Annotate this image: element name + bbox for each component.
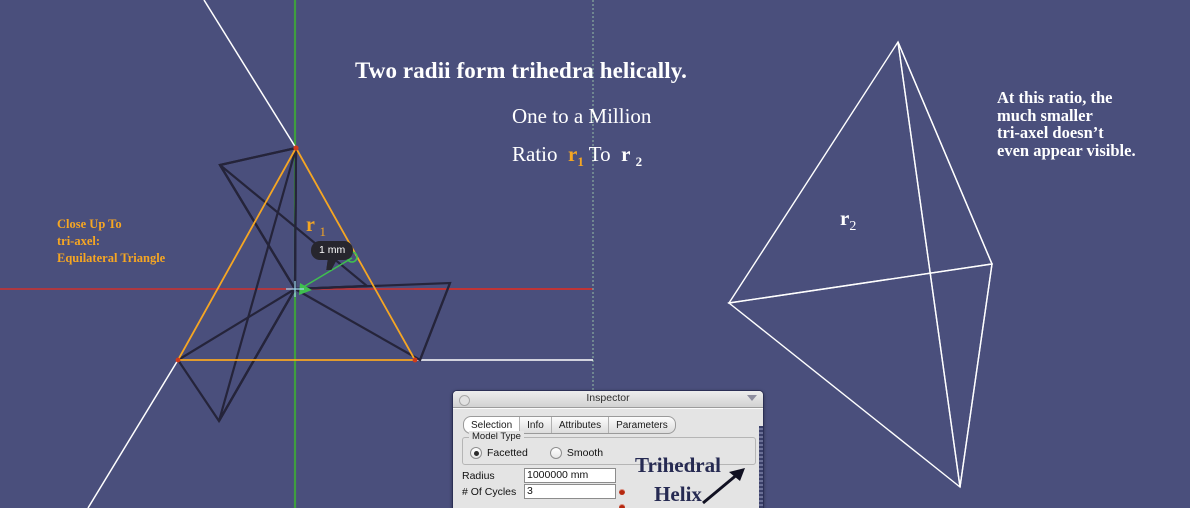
radio-smooth-icon[interactable] [550, 447, 562, 459]
r1-symbol: r [306, 214, 315, 236]
viewport-canvas: Two radii form trihedra helically. One t… [0, 0, 1190, 508]
right-note-line-4: even appear visible. [997, 142, 1187, 160]
tab-info[interactable]: Info [520, 417, 552, 433]
construction-line-upper-left [204, 0, 296, 148]
pointer-arrow-icon [699, 467, 747, 507]
tab-attributes[interactable]: Attributes [552, 417, 609, 433]
origin-crosshair [286, 281, 304, 297]
vertex-marker-bottom-right [413, 358, 418, 363]
cycles-field-row[interactable]: # Of Cycles 3 [462, 484, 616, 499]
r2-symbol: r [840, 206, 849, 230]
trihedron-wireframe-large [729, 42, 992, 487]
radio-facetted-icon[interactable] [470, 447, 482, 459]
vertex-marker-apex [293, 145, 298, 150]
ratio-r1-subscript: 1 [577, 154, 584, 169]
inspector-title: Inspector [453, 392, 763, 404]
radius-field-row[interactable]: Radius 1000000 mm [462, 468, 616, 483]
r1-subscript: 1 [320, 224, 327, 239]
ratio-middle-label: To [589, 142, 611, 166]
tab-parameters[interactable]: Parameters [609, 417, 675, 433]
chevron-down-icon[interactable] [747, 395, 757, 401]
left-note-line-2: tri-axel: [57, 233, 165, 250]
radio-smooth-label[interactable]: Smooth [567, 447, 603, 459]
construction-line-lower-left [88, 360, 178, 508]
inspector-scrollbar[interactable] [759, 426, 763, 508]
ratio-r2-subscript: 2 [636, 154, 643, 169]
left-annotation-note: Close Up To tri-axel: Equilateral Triang… [57, 216, 165, 267]
page-title: Two radii form trihedra helically. [355, 58, 687, 84]
radio-facetted-label[interactable]: Facetted [487, 447, 528, 459]
ratio-prefix-label: Ratio [512, 142, 558, 166]
model-type-radio-row[interactable]: Facetted Smooth [470, 447, 603, 459]
equilateral-triangle-orange [178, 148, 415, 360]
right-annotation-note: At this ratio, the much smaller tri-axel… [997, 89, 1187, 159]
ratio-r1-symbol: r [568, 142, 577, 166]
right-note-line-2: much smaller [997, 107, 1187, 125]
right-note-line-1: At this ratio, the [997, 89, 1187, 107]
right-note-line-3: tri-axel doesn’t [997, 124, 1187, 142]
ratio-line: Ratio r1 To r 2 [512, 142, 642, 170]
cycles-label: # Of Cycles [462, 486, 524, 498]
radius-label: Radius [462, 470, 524, 482]
inspector-titlebar[interactable]: Inspector [453, 391, 763, 408]
radius-input[interactable]: 1000000 mm [524, 468, 616, 483]
radius-label-r1: r 1 [306, 214, 326, 240]
subtitle: One to a Million [512, 104, 651, 129]
r2-subscript: 2 [849, 219, 856, 234]
measurement-tooltip: 1 mm [311, 241, 353, 260]
ratio-r2-symbol: r [621, 142, 630, 166]
left-note-line-1: Close Up To [57, 216, 165, 233]
inspector-body: Selection Info Attributes Parameters Mod… [453, 408, 763, 508]
model-type-legend: Model Type [469, 431, 524, 442]
vertex-marker-bottom-left [176, 358, 181, 363]
cycles-input[interactable]: 3 [524, 484, 616, 499]
left-note-line-3: Equilateral Triangle [57, 250, 165, 267]
inspector-window[interactable]: Inspector Selection Info Attributes Para… [452, 390, 764, 508]
tri-axel-wireframe [178, 148, 450, 421]
tooltip-tail [326, 260, 336, 270]
radius-label-r2: r2 [840, 206, 856, 235]
